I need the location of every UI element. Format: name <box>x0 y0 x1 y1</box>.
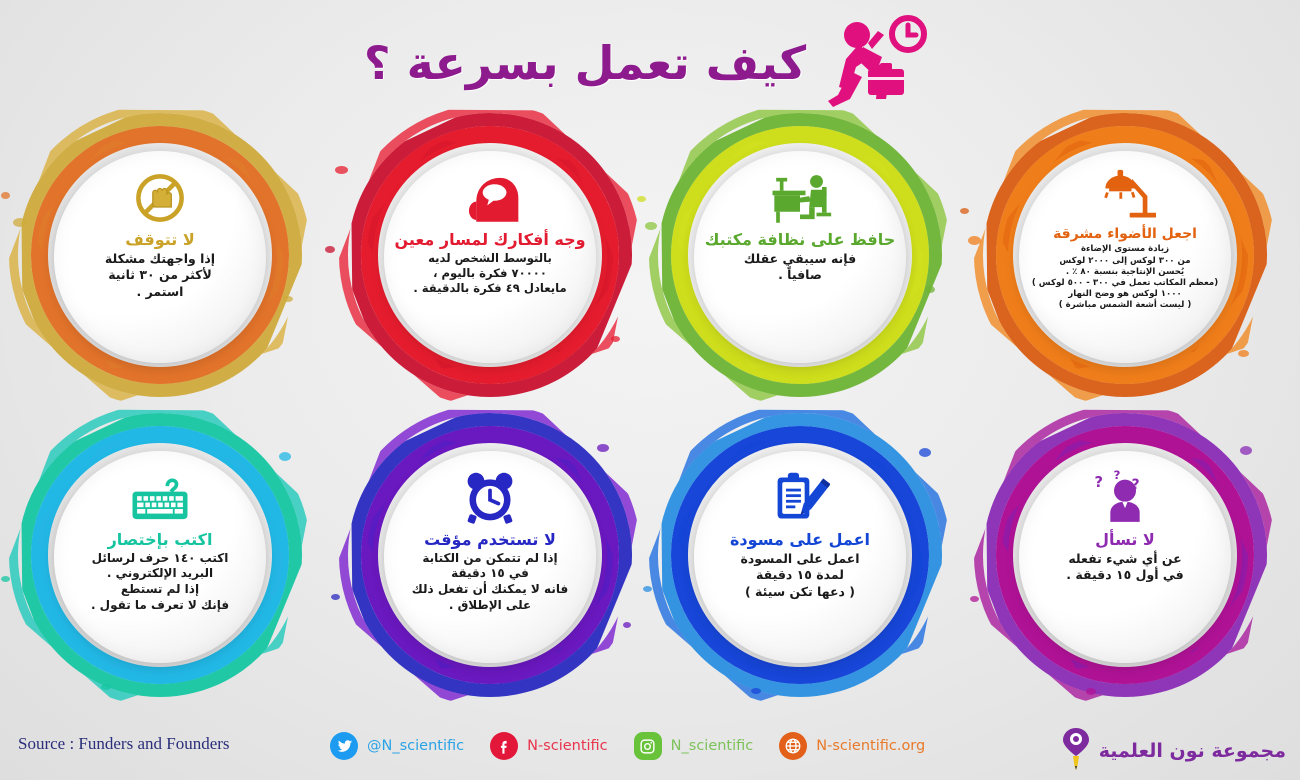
social-label: N_scientific <box>671 738 754 754</box>
social-label: N-scientific <box>527 738 608 754</box>
social-label: @N_scientific <box>367 738 464 754</box>
card-title: اجعل الأضواء مشرقة <box>1053 227 1197 242</box>
running-businessman-with-clock-icon <box>816 13 936 113</box>
desk-lamp-icon <box>1094 167 1156 225</box>
card-make-lights-bright[interactable]: اجعل الأضواء مشرقة زيادة مستوى الإضاءة م… <box>975 112 1275 402</box>
svg-text:?: ? <box>1094 474 1103 491</box>
card-disc: ? ? ? لا تسأل عن أي شيء تفعله في أول ١٥ … <box>1019 451 1231 663</box>
card-body: عن أي شيء تفعله في أول ١٥ دقيقة . <box>1054 551 1195 584</box>
card-title: حافظ على نظافة مكتبك <box>705 231 895 249</box>
person-question-marks-icon: ? ? ? <box>1092 467 1158 529</box>
globe-icon <box>779 732 807 760</box>
card-dont-ask[interactable]: ? ? ? لا تسأل عن أي شيء تفعله في أول ١٥ … <box>975 412 1275 702</box>
social-label: N-scientific.org <box>816 738 925 754</box>
card-disc: وجه أفكارك لمسار معين بالتوسط الشخص لديه… <box>384 151 596 363</box>
card-title: وجه أفكارك لمسار معين <box>394 231 585 249</box>
footer: Source : Funders and Founders @N_scienti… <box>0 710 1300 780</box>
card-disc: اجعل الأضواء مشرقة زيادة مستوى الإضاءة م… <box>1019 151 1231 363</box>
social-links: @N_scientific N-scientific <box>330 732 925 760</box>
card-dont-stop[interactable]: لا تتوقف إذا واجهتك مشكلة لأكثر من ٣٠ ثا… <box>10 112 310 402</box>
instagram-icon <box>634 732 662 760</box>
card-write-briefly[interactable]: اكتب بإختصار اكتب ١٤٠ حرف لرسائل البريد … <box>10 412 310 702</box>
card-body: اكتب ١٤٠ حرف لرسائل البريد الإلكتروني . … <box>79 551 241 614</box>
svg-text:?: ? <box>1132 477 1140 493</box>
facebook-icon <box>490 732 518 760</box>
social-link-facebook[interactable]: N-scientific <box>490 732 608 760</box>
card-body: زيادة مستوى الإضاءة من ٣٠٠ لوكس إلى ٢٠٠٠… <box>1026 244 1224 311</box>
card-body: فإنه سيبقي عقلك صافياً . <box>732 251 868 284</box>
card-body: إذا لم تتمكن من الكتابة في ١٥ دقيقة فانه… <box>400 551 580 614</box>
clipboard-pencil-icon <box>770 467 830 529</box>
keyboard-icon <box>127 467 193 529</box>
card-title: لا تتوقف <box>125 231 195 249</box>
card-body: إذا واجهتك مشكلة لأكثر من ٣٠ ثانية استمر… <box>93 251 227 301</box>
twitter-icon <box>330 732 358 760</box>
card-disc: اكتب بإختصار اكتب ١٤٠ حرف لرسائل البريد … <box>54 451 266 663</box>
source-credit: Source : Funders and Founders <box>18 734 230 754</box>
card-title: اكتب بإختصار <box>108 531 213 549</box>
card-disc: لا تستخدم مؤقت إذا لم تتمكن من الكتابة ف… <box>384 451 596 663</box>
alarm-clock-icon <box>461 467 519 529</box>
social-link-instagram[interactable]: N_scientific <box>634 732 754 760</box>
cards-grid: لا تتوقف إذا واجهتك مشكلة لأكثر من ٣٠ ثا… <box>0 112 1300 712</box>
card-body: بالتوسط الشخص لديه ٧٠٠٠٠ فكرة باليوم ، م… <box>401 251 578 297</box>
card-body: اعمل على المسودة لمدة ١٥ دقيقة ( دعها تك… <box>728 551 871 601</box>
page-title: كيف تعمل بسرعة ؟ <box>364 40 806 86</box>
card-direct-your-thoughts[interactable]: وجه أفكارك لمسار معين بالتوسط الشخص لديه… <box>340 112 640 402</box>
card-title: لا تستخدم مؤقت <box>424 531 556 549</box>
brand[interactable]: مجموعة نون العلمية <box>1061 726 1286 776</box>
social-link-twitter[interactable]: @N_scientific <box>330 732 464 760</box>
card-disc: حافظ على نظافة مكتبك فإنه سيبقي عقلك صاف… <box>694 151 906 363</box>
card-work-on-draft[interactable]: اعمل على مسودة اعمل على المسودة لمدة ١٥ … <box>650 412 950 702</box>
brand-name: مجموعة نون العلمية <box>1099 740 1286 762</box>
head-thought-bubble-icon <box>458 167 522 229</box>
card-keep-desk-clean[interactable]: حافظ على نظافة مكتبك فإنه سيبقي عقلك صاف… <box>650 112 950 402</box>
card-title: لا تسأل <box>1095 531 1155 549</box>
desk-worker-icon <box>767 167 833 229</box>
noon-pin-pen-logo <box>1061 726 1091 776</box>
card-dont-use-timer[interactable]: لا تستخدم مؤقت إذا لم تتمكن من الكتابة ف… <box>340 412 640 702</box>
header: كيف تعمل بسرعة ؟ <box>0 8 1300 118</box>
no-hand-stop-icon <box>133 167 187 229</box>
svg-text:?: ? <box>1113 469 1120 482</box>
card-title: اعمل على مسودة <box>730 531 870 549</box>
social-link-website[interactable]: N-scientific.org <box>779 732 925 760</box>
card-disc: اعمل على مسودة اعمل على المسودة لمدة ١٥ … <box>694 451 906 663</box>
card-disc: لا تتوقف إذا واجهتك مشكلة لأكثر من ٣٠ ثا… <box>54 151 266 363</box>
infographic-canvas: كيف تعمل بسرعة ؟ <box>0 0 1300 780</box>
